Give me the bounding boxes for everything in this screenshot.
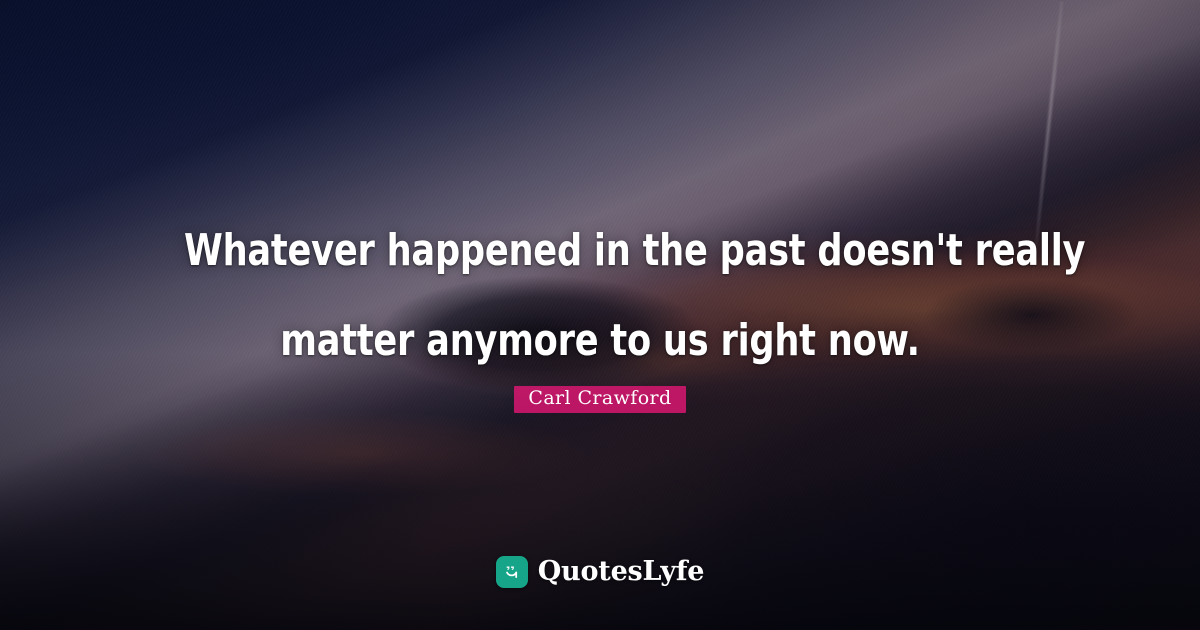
brand-watermark: QuotesLyfe (0, 556, 1200, 588)
card-content: Whatever happened in the past doesn't re… (0, 0, 1200, 630)
quote-text: Whatever happened in the past doesn't re… (0, 206, 1200, 386)
quote-line-1: Whatever happened in the past doesn't re… (184, 206, 1016, 296)
author-attribution: Carl Crawford (0, 386, 1200, 413)
brand-name-label: QuotesLyfe (538, 556, 705, 588)
author-name-badge: Carl Crawford (514, 386, 685, 413)
quoteslyfe-logo-icon (496, 556, 528, 588)
quote-card: Whatever happened in the past doesn't re… (0, 0, 1200, 630)
quote-line-2: matter anymore to us right now. (184, 296, 1016, 386)
